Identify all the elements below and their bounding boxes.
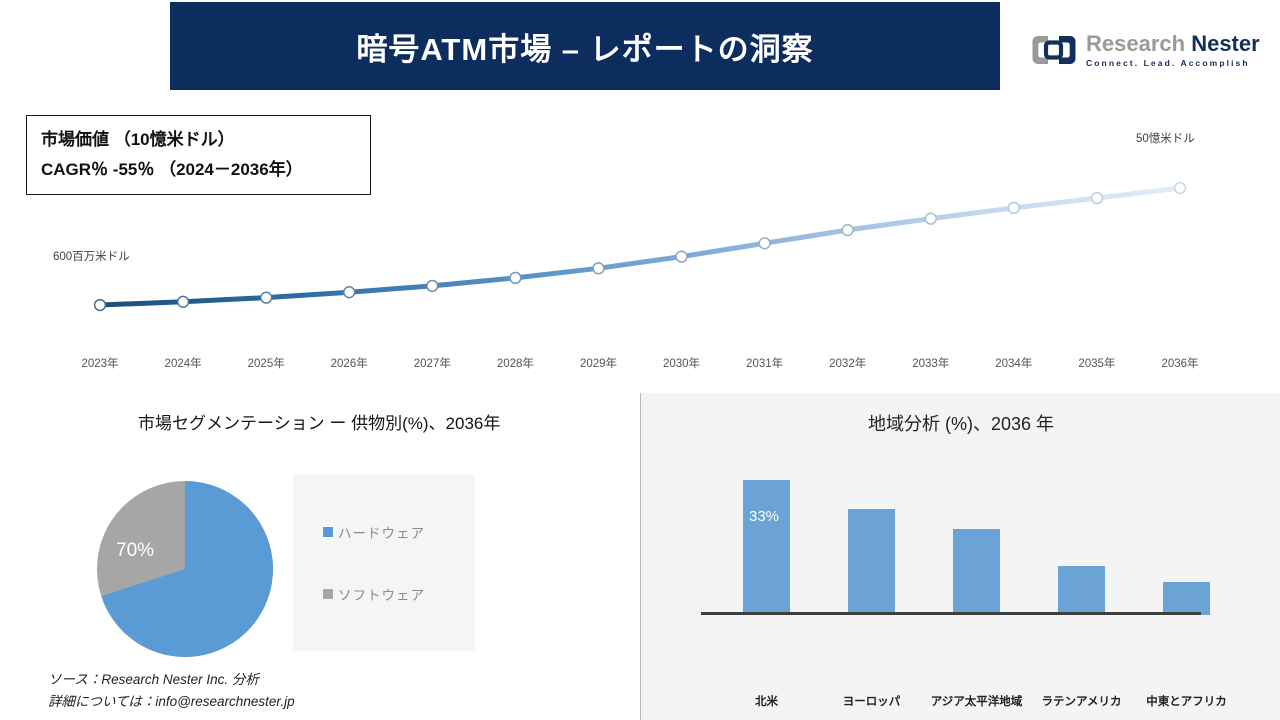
- legend-item-software: ソフトウェア: [293, 584, 475, 604]
- legend-item-hardware: ハードウェア: [293, 522, 475, 542]
- pie-legend: ハードウェア ソフトウェア: [293, 475, 475, 651]
- pie-value-label: 70%: [116, 540, 154, 562]
- line-x-tick-label: 2025年: [248, 355, 285, 371]
- line-marker: [1175, 183, 1186, 194]
- line-x-tick-label: 2024年: [165, 355, 202, 371]
- line-marker: [676, 251, 687, 262]
- bar-column: [1163, 582, 1210, 615]
- line-chart-x-axis: 2023年2024年2025年2026年2027年2028年2029年2030年…: [0, 355, 1280, 381]
- footnote-source-line: ソース：Research Nester Inc. 分析: [48, 669, 295, 691]
- line-x-tick-label: 2031年: [746, 355, 783, 371]
- research-nester-logo: Research Nester Connect. Lead. Accomplis…: [1032, 22, 1264, 78]
- line-x-tick-label: 2026年: [331, 355, 368, 371]
- line-x-tick-label: 2023年: [81, 355, 118, 371]
- regional-analysis-panel: 地域分析 (%)、2036 年 33%北米ヨーロッパアジア太平洋地域ラテンアメリ…: [640, 393, 1280, 720]
- line-x-tick-label: 2027年: [414, 355, 451, 371]
- bar-category-label: ヨーロッパ: [843, 693, 901, 709]
- legend-swatch-icon-software: [323, 589, 333, 599]
- logo-name-first: Research: [1086, 31, 1185, 56]
- line-x-tick-label: 2032年: [829, 355, 866, 371]
- bar-column: [1058, 566, 1105, 615]
- bar-column: [848, 509, 895, 615]
- bar-column: [953, 529, 1000, 615]
- logo-text: Research Nester Connect. Lead. Accomplis…: [1086, 33, 1260, 68]
- line-marker: [510, 273, 521, 284]
- line-x-tick-label: 2029年: [580, 355, 617, 371]
- line-marker: [178, 296, 189, 307]
- line-x-tick-label: 2034年: [995, 355, 1032, 371]
- regional-analysis-title: 地域分析 (%)、2036 年: [641, 410, 1280, 436]
- regional-bar-chart: 33%北米ヨーロッパアジア太平洋地域ラテンアメリカ中東とアフリカ: [701, 465, 1221, 615]
- bar-value-label: 33%: [749, 508, 779, 525]
- source-footnote: ソース：Research Nester Inc. 分析 詳細については：info…: [48, 669, 295, 713]
- line-x-tick-label: 2036年: [1161, 355, 1198, 371]
- line-marker: [261, 292, 272, 303]
- line-x-tick-label: 2033年: [912, 355, 949, 371]
- line-marker: [1008, 203, 1019, 214]
- bar-column: 33%: [743, 480, 790, 615]
- bar-category-label: ラテンアメリカ: [1042, 693, 1122, 709]
- line-x-tick-label: 2030年: [663, 355, 700, 371]
- logo-name-second: Nester: [1191, 31, 1259, 56]
- line-marker: [344, 287, 355, 298]
- bar-chart-baseline: [701, 612, 1201, 615]
- line-marker: [925, 213, 936, 224]
- legend-label-hardware: ハードウェア: [338, 522, 425, 542]
- line-x-tick-label: 2035年: [1078, 355, 1115, 371]
- bar-category-label: アジア太平洋地域: [931, 693, 1023, 709]
- market-value-line-chart: 600百万米ドル 50憶米ドル 2023年2024年2025年2026年2027…: [0, 100, 1280, 390]
- bar-category-label: 中東とアフリカ: [1146, 693, 1227, 709]
- logo-name: Research Nester: [1086, 33, 1260, 55]
- logo-tagline: Connect. Lead. Accomplish: [1086, 59, 1260, 68]
- line-marker: [842, 225, 853, 236]
- line-chart-svg: [0, 100, 1280, 360]
- segmentation-panel: 市場セグメンテーション ー 供物別(%)、2036年 70% ハードウェア ソフ…: [0, 393, 640, 720]
- bar-category-label: 北米: [755, 693, 778, 709]
- segmentation-pie-chart: [96, 480, 274, 658]
- line-x-tick-label: 2028年: [497, 355, 534, 371]
- legend-label-software: ソフトウェア: [338, 584, 425, 604]
- line-marker: [427, 281, 438, 292]
- line-marker: [1092, 193, 1103, 204]
- line-marker: [759, 238, 770, 249]
- header-banner: 暗号ATM市場 – レポートの洞察: [170, 2, 1000, 90]
- page-title: 暗号ATM市場 – レポートの洞察: [356, 24, 813, 69]
- line-marker: [95, 300, 106, 311]
- footnote-contact-line: 詳細については：info@researchnester.jp: [48, 691, 295, 713]
- segmentation-title: 市場セグメンテーション ー 供物別(%)、2036年: [138, 409, 500, 434]
- line-marker: [593, 263, 604, 274]
- chain-link-icon: [1032, 33, 1078, 67]
- legend-swatch-icon-hardware: [323, 527, 333, 537]
